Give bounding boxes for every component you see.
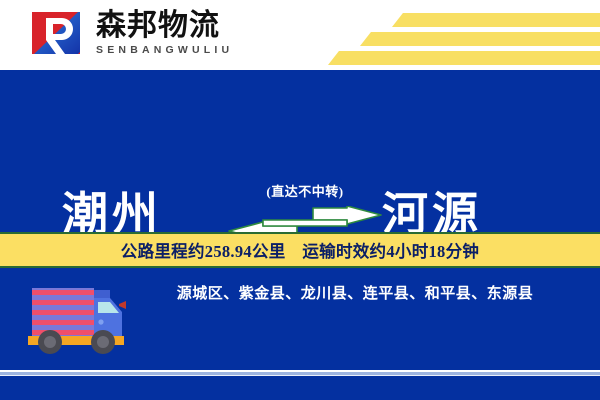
brand-text: 森邦物流 SENBANGWULIU — [96, 10, 233, 57]
stripe-1 — [392, 13, 600, 27]
route-panel: 潮州 (直达不中转) 【往返运输】 河源 — [0, 70, 600, 232]
stripe-2 — [360, 32, 600, 46]
brand-logo: 森邦物流 SENBANGWULIU — [28, 8, 233, 58]
coverage-districts-text: 源城区、紫金县、龙川县、连平县、和平县、东源县 — [140, 282, 570, 303]
logistics-route-poster: 森邦物流 SENBANGWULIU 潮州 (直达不中转) 【往返运输】 河源 公… — [0, 0, 600, 400]
brand-name-cn: 森邦物流 — [96, 10, 233, 42]
direct-service-label: (直达不中转) — [225, 185, 385, 198]
route-info-text: 公路里程约258.94公里 运输时效约4小时18分钟 — [121, 238, 479, 262]
poster-bottom-trim — [0, 370, 600, 400]
stripe-3 — [328, 51, 600, 65]
brand-name-en: SENBANGWULIU — [96, 44, 233, 56]
route-info-bar: 公路里程约258.94公里 运输时效约4小时18分钟 — [0, 232, 600, 268]
poster-header: 森邦物流 SENBANGWULIU — [0, 0, 600, 70]
trim-line-highlight — [0, 375, 600, 376]
header-stripe-decoration — [320, 0, 600, 70]
senbang-r-logo-icon — [28, 8, 84, 58]
coverage-area-row: 源城区、紫金县、龙川县、连平县、和平县、东源县 — [0, 268, 600, 373]
delivery-truck-icon — [24, 280, 128, 358]
